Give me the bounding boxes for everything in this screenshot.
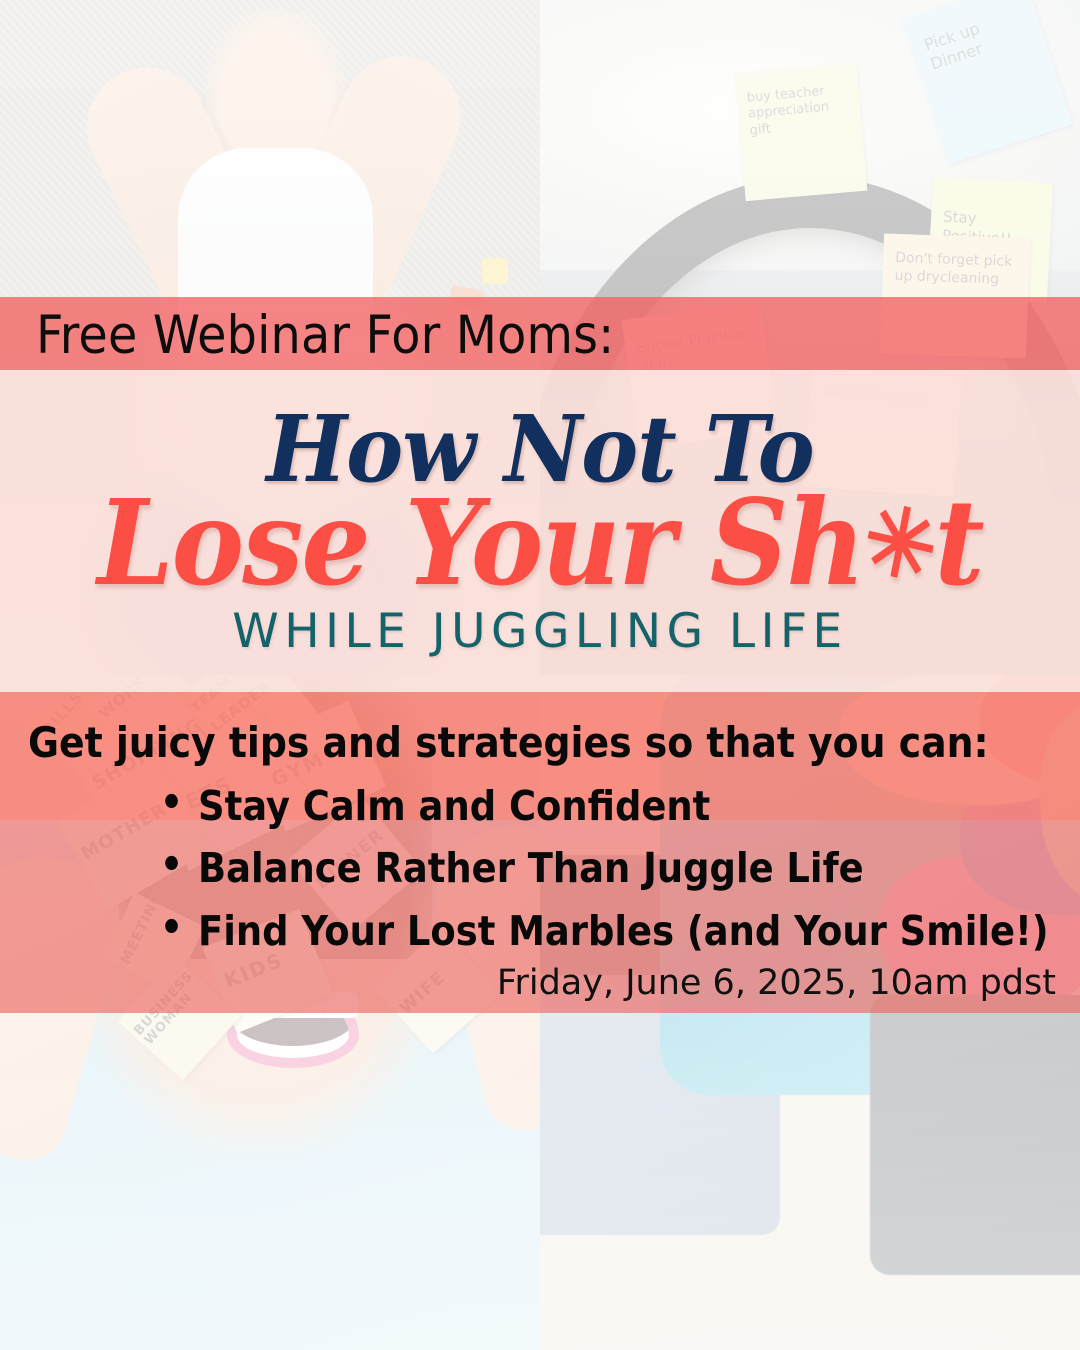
list-item: Find Your Lost Marbles (and Your Smile!) (160, 907, 1060, 955)
webinar-promo-poster: buy teacher appreciation gift Stay Posit… (0, 0, 1080, 1350)
headline-line-2-pre: Lose Your Sh (97, 473, 863, 612)
asterisk-glyph: ✳ (855, 490, 942, 598)
headline-line-2: Lose Your Sh✳t (43, 484, 1037, 602)
webinar-datetime: Friday, June 6, 2025, 10am pdst (497, 963, 1056, 1003)
list-item: Balance Rather Than Juggle Life (160, 844, 1060, 892)
eyebrow-text: Free Webinar For Moms: (36, 305, 936, 366)
lead-in-text: Get juicy tips and strategies so that yo… (28, 718, 1008, 767)
list-item: Stay Calm and Confident (160, 782, 1060, 830)
benefits-list: Stay Calm and Confident Balance Rather T… (160, 782, 1060, 969)
headline-subtitle: WHILE JUGGLING LIFE (0, 604, 1080, 659)
headline-line-2-post: t (934, 473, 982, 612)
